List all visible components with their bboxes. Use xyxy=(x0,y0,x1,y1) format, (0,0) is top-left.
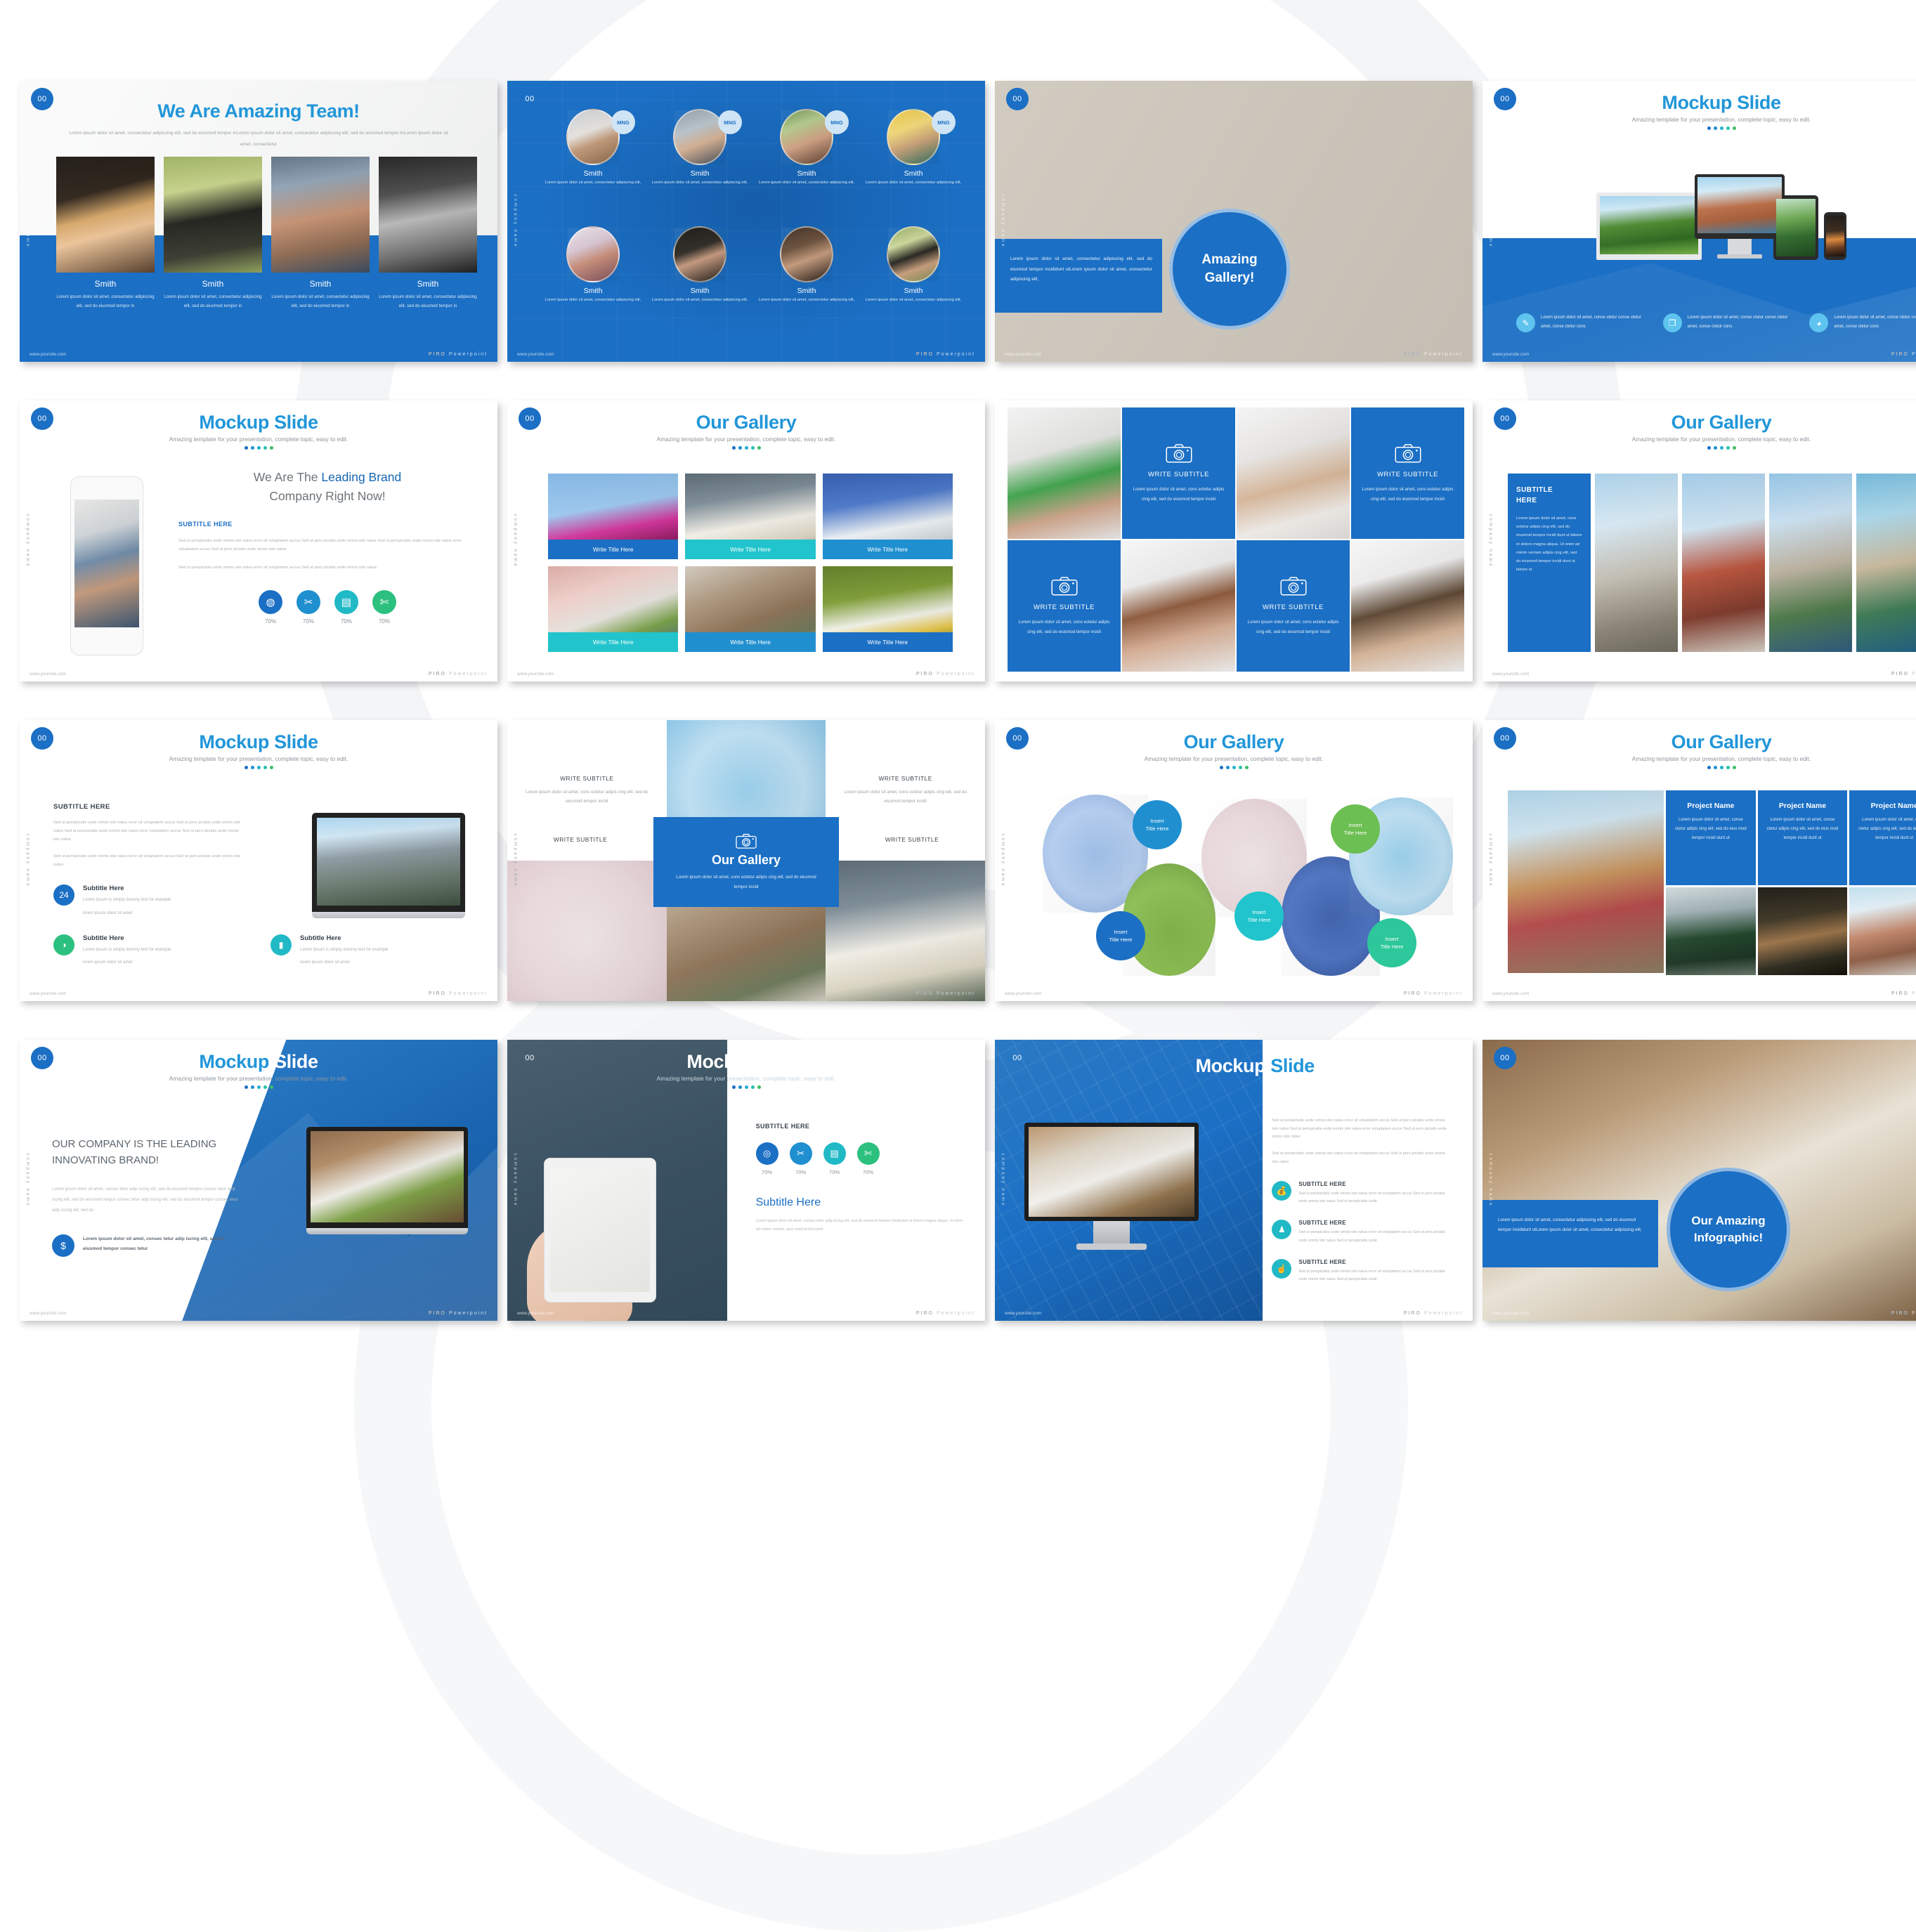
circle-label[interactable]: InsertTitle Here xyxy=(1234,892,1284,941)
page-title: Mockup Slide xyxy=(507,1051,985,1073)
stat-item[interactable]: ✂ 70% xyxy=(296,590,320,625)
gallery-caption: Write Title Here xyxy=(823,632,953,652)
stat-row: ◍ 70% ✂ 70% ▤ 70% ✄ 70% xyxy=(178,590,476,625)
gallery-item[interactable]: Write Title Here xyxy=(548,566,678,652)
project-desc: Lorem ipsum dolor sit amet, conse ctetur… xyxy=(1766,816,1839,843)
camera-icon xyxy=(1395,443,1421,464)
list-item[interactable]: ▮ Subtitle Here Lorem Ipsum is simply du… xyxy=(271,934,469,967)
slide-amazing-infographic[interactable]: 00 Lorem ipsum dolor sit amet, consectet… xyxy=(1482,1040,1916,1321)
member-desc: Lorem ipsum dolor sit amet, consectetur … xyxy=(379,292,477,311)
circle-line-2: Infographic! xyxy=(1694,1229,1763,1246)
cell-heading: WRITE SUBTITLE xyxy=(1377,471,1438,478)
slide-write-subtitle-checker[interactable]: WRITE SUBTITLE Lorem ipsum dolor sit ame… xyxy=(995,400,1473,681)
slide5-header: Mockup Slide Amazing template for your p… xyxy=(20,400,497,450)
slide-mockup-devices[interactable]: 00 Mockup Slide Amazing template for you… xyxy=(1482,81,1916,362)
slide-leading-brand[interactable]: 00 Mockup Slide Amazing template for you… xyxy=(20,400,497,681)
feature-line-1: Lorem Ipsum is simply dummy text for exa… xyxy=(83,946,171,955)
page-title: Mockup Slide xyxy=(20,412,497,433)
footer-brand: PIRO Powerpoint xyxy=(916,1311,975,1316)
text-cell[interactable]: WRITE SUBTITLE Lorem ipsum dolor sit ame… xyxy=(1351,407,1464,539)
laptop-base xyxy=(306,1228,468,1234)
page-title: Mockup Slide xyxy=(20,1051,497,1073)
slide-number-badge: 00 xyxy=(1494,88,1516,110)
project-name: Project Name xyxy=(1766,802,1839,810)
slide13-text-column: OUR COMPANY IS THE LEADING INNOVATING BR… xyxy=(52,1137,240,1257)
cell-body: Lorem ipsum dolor sit amet, cons ectetur… xyxy=(1360,485,1455,504)
circle-label[interactable]: InsertTitle Here xyxy=(1133,800,1182,849)
gallery-photo xyxy=(1351,540,1464,672)
text-cell[interactable]: WRITE SUBTITLE Lorem ipsum dolor sit ame… xyxy=(1237,540,1350,672)
body-paragraph-2: Sed ut perspiciatis unde omnis iste natu… xyxy=(1272,1150,1452,1166)
member-name: Smith xyxy=(861,287,965,295)
list-item[interactable]: ❐ Lorem ipsum dolor sit amet, conse ctet… xyxy=(1663,313,1793,332)
project-photo[interactable] xyxy=(1758,887,1848,975)
sidebar-company-label: company name xyxy=(1488,194,1492,248)
device-mockup-group xyxy=(1482,155,1916,260)
feature-line-2: lorem ipsum dolor sit amet xyxy=(300,958,388,967)
laptop-mockup xyxy=(306,1127,468,1234)
list-item[interactable]: Smith Lorem ipsum dolor sit amet, consec… xyxy=(755,226,859,341)
role-badge: MNG xyxy=(718,110,742,134)
slide-number-badge: 00 xyxy=(1494,407,1516,430)
row-body: Sed ut perspiciatis unde omnis iste natu… xyxy=(1298,1229,1452,1245)
laptop-screen xyxy=(1600,196,1698,254)
cell-body: Lorem ipsum dolor sit amet, cons ectetur… xyxy=(1017,618,1112,637)
footer-url[interactable]: www.yoursite.com xyxy=(1005,352,1041,357)
slide-number-badge: 00 xyxy=(1494,1047,1516,1069)
slide6-header: Our Gallery Amazing template for your pr… xyxy=(507,400,985,450)
slide13-header: Mockup Slide Amazing template for your p… xyxy=(20,1040,497,1089)
sidebar-company-label: company name xyxy=(1488,833,1492,887)
stat-item[interactable]: ▤ 70% xyxy=(823,1142,846,1175)
panel-heading-2: HERE xyxy=(1516,495,1582,506)
list-item[interactable]: Smith Lorem ipsum dolor sit amet, consec… xyxy=(271,157,370,311)
gallery-item[interactable]: Write Title Here xyxy=(685,474,815,559)
list-item[interactable]: MNG Smith Lorem ipsum dolor sit amet, co… xyxy=(541,109,645,223)
imac-base xyxy=(1076,1244,1147,1250)
feature-line-2: lorem ipsum dolor sit amet xyxy=(83,958,171,967)
scissors-icon: ✄ xyxy=(372,590,396,614)
center-body: Lorem ipsum dolor sit amet, cons ectetur… xyxy=(669,873,823,892)
slide-number-badge: 00 xyxy=(519,407,541,430)
sidebar-company-label: company name xyxy=(1488,1153,1492,1207)
slide3-caption-text: Lorem ipsum dolor sit amet, consectetur … xyxy=(995,239,1162,285)
member-desc: Lorem ipsum dolor sit amet, consectetur … xyxy=(861,296,965,304)
slide-team-amazing[interactable]: 00 We Are Amazing Team! Lorem ipsum dolo… xyxy=(20,81,497,362)
row-body: Sed ut perspiciatis unde omnis iste natu… xyxy=(1298,1190,1452,1206)
list-item[interactable]: Smith Lorem ipsum dolor sit amet, consec… xyxy=(541,226,645,341)
chart-gear-icon: ◕ xyxy=(1809,313,1828,332)
project-columns: Project Name Lorem ipsum dolor sit amet,… xyxy=(1666,790,1916,973)
panel-heading-1: SUBTITLE xyxy=(1516,485,1582,495)
member-desc: Lorem ipsum dolor sit amet, consectetur … xyxy=(541,179,645,187)
list-item[interactable]: Smith Lorem ipsum dolor sit amet, consec… xyxy=(164,157,262,311)
sidebar-company-label: company name xyxy=(513,514,517,568)
member-name: Smith xyxy=(648,287,752,295)
footer-brand: PIRO Powerpoint xyxy=(916,352,975,357)
role-badge: MNG xyxy=(825,110,849,134)
project-photo[interactable] xyxy=(1849,887,1916,975)
footer-url[interactable]: www.yoursite.com xyxy=(517,1311,554,1316)
list-item[interactable]: Smith Lorem ipsum dolor sit amet, consec… xyxy=(861,226,965,341)
dot-indicator xyxy=(20,766,497,769)
panel-body: Lorem ipsum dolor sit amet, cons ectetur… xyxy=(1516,514,1582,574)
page-subtitle: Amazing template for your presentation, … xyxy=(1482,755,1916,762)
slide8-content: SUBTITLE HERE Lorem ipsum dolor sit amet… xyxy=(1508,474,1916,652)
stat-value: 70% xyxy=(756,1169,778,1175)
gallery-photo[interactable] xyxy=(1769,474,1852,652)
imac-mockup xyxy=(1695,174,1785,260)
footer-brand: PIRO Powerpoint xyxy=(429,1311,488,1316)
gallery-photo[interactable] xyxy=(1682,474,1765,652)
section-subtitle: SUBTITLE HERE xyxy=(178,521,476,528)
project-name: Project Name xyxy=(1858,802,1916,810)
list-item[interactable]: 24 Subtitle Here Lorem Ipsum is simply d… xyxy=(53,885,245,918)
footer-url[interactable]: www.yoursite.com xyxy=(1492,991,1529,996)
phone-mockup xyxy=(70,476,143,655)
page-subtitle: Amazing template for your presentation, … xyxy=(20,1075,497,1082)
circle-gallery-stage: InsertTitle Here InsertTitle Here Insert… xyxy=(1020,788,1453,977)
circle-label[interactable]: InsertTitle Here xyxy=(1096,911,1145,960)
member-desc: Lorem ipsum dolor sit amet, consectetur … xyxy=(755,296,859,304)
imac-base xyxy=(1717,254,1762,259)
feature-title: Subtitle Here xyxy=(300,934,388,942)
list-item[interactable]: MNG Smith Lorem ipsum dolor sit amet, co… xyxy=(755,109,859,223)
stat-value: 70% xyxy=(259,618,282,625)
sidebar-company-label: company name xyxy=(1001,833,1005,887)
member-photo xyxy=(164,157,262,273)
gallery-photo[interactable] xyxy=(507,861,667,1001)
infographic-badge[interactable]: Our Amazing Infographic! xyxy=(1667,1168,1790,1291)
gallery-caption: Write Title Here xyxy=(823,540,953,559)
document-icon: ▤ xyxy=(823,1142,846,1165)
section-subtitle: SUBTITLE HERE xyxy=(756,1123,965,1130)
page-title: Our Gallery xyxy=(1482,731,1916,753)
project-photo[interactable] xyxy=(1666,887,1756,975)
list-item[interactable]: 💰 SUBTITLE HERESed ut perspiciatis unde … xyxy=(1272,1181,1452,1206)
circle-line-2: Gallery! xyxy=(1205,269,1255,287)
slide9-text-column: SUBTITLE HERE Sed ut perspiciatis unde o… xyxy=(53,803,245,918)
team-icon: ♟ xyxy=(1272,1220,1291,1239)
slide-number-badge: 00 xyxy=(31,1047,53,1069)
slide-number-badge: 00 xyxy=(31,407,53,430)
row-body: Sed ut perspiciatis unde omnis iste natu… xyxy=(1298,1268,1452,1284)
stat-item[interactable]: ◎ 70% xyxy=(756,1142,778,1175)
circle-label[interactable]: InsertTitle Here xyxy=(1367,918,1416,967)
tablet-screen xyxy=(550,1168,650,1292)
phone-mockup xyxy=(1824,212,1846,260)
page-title: Mockup Slide xyxy=(1482,92,1916,114)
slide16-caption-band: Lorem ipsum dolor sit amet, consectetur … xyxy=(1482,1200,1658,1267)
slide-mockup-tablet[interactable]: 00 Mockup Slide Amazing template for you… xyxy=(507,1040,985,1321)
cell-heading: WRITE SUBTITLE xyxy=(878,775,932,782)
footer-url[interactable]: www.yoursite.com xyxy=(1492,1311,1529,1316)
feature-line-2: lorem ipsum dolor sit amet xyxy=(83,909,171,918)
stat-value: 70% xyxy=(372,618,396,625)
dot-indicator xyxy=(20,446,497,450)
pencil-icon: ✎ xyxy=(1516,313,1535,332)
gallery-caption: Write Title Here xyxy=(548,632,678,652)
list-item[interactable]: ◑ Subtitle Here Lorem Ipsum is simply du… xyxy=(53,934,252,967)
laptop-base xyxy=(312,912,465,918)
list-item[interactable]: ♟ SUBTITLE HERESed ut perspiciatis unde … xyxy=(1272,1220,1452,1245)
footer-url[interactable]: www.yoursite.com xyxy=(1005,991,1041,996)
page-title: Mockup Slide xyxy=(1196,1055,1454,1077)
member-photo xyxy=(379,157,477,273)
slide-number-badge: 00 xyxy=(1006,88,1029,110)
headline: We Are The Leading Brand Company Right N… xyxy=(178,468,476,505)
text-cell[interactable]: WRITE SUBTITLE Lorem ipsum dolor sit ame… xyxy=(1122,407,1235,539)
stat-item[interactable]: ◍ 70% xyxy=(259,590,282,625)
project-grid: Project Name Lorem ipsum dolor sit amet,… xyxy=(1508,790,1916,973)
checker-grid: WRITE SUBTITLE Lorem ipsum dolor sit ame… xyxy=(1008,407,1464,672)
list-item[interactable]: Smith Lorem ipsum dolor sit amet, consec… xyxy=(56,157,155,311)
slide-number-badge: 00 xyxy=(1006,727,1029,750)
center-gallery-card[interactable]: Our Gallery Lorem ipsum dolor sit amet, … xyxy=(653,817,839,907)
page-title: Our Gallery xyxy=(995,731,1473,753)
list-item[interactable]: ◕ Lorem ipsum dolor sit amet, conse ctet… xyxy=(1809,313,1916,332)
stat-item[interactable]: ✄ 70% xyxy=(857,1142,880,1175)
member-name: Smith xyxy=(164,279,262,289)
list-item[interactable]: MNG Smith Lorem ipsum dolor sit amet, co… xyxy=(861,109,965,223)
gallery-caption: Write Title Here xyxy=(548,540,678,559)
list-item[interactable]: MNG Smith Lorem ipsum dolor sit amet, co… xyxy=(648,109,752,223)
page-subtitle: Amazing template for your presentation, … xyxy=(20,436,497,443)
gallery-item[interactable]: Write Title Here xyxy=(823,474,953,559)
cell-body: Lorem ipsum dolor sit amet, cons ectetur… xyxy=(1131,485,1226,504)
feature-text: Lorem ipsum dolor sit amet, conse ctetur… xyxy=(1688,313,1793,331)
footer-url[interactable]: www.yoursite.com xyxy=(1492,352,1529,357)
footer-brand: PIRO Powerpoint xyxy=(916,672,975,677)
slide-number-badge: 00 xyxy=(1494,727,1516,750)
row-title: SUBTITLE HERE xyxy=(1298,1181,1452,1187)
imac-stand xyxy=(1728,239,1752,254)
hand-coin-icon: ☝ xyxy=(1272,1259,1291,1279)
footer-url[interactable]: www.yoursite.com xyxy=(517,352,554,357)
tools-icon: ✂ xyxy=(790,1142,812,1165)
dot-indicator xyxy=(507,1085,985,1089)
body-paragraph-2: Sed ut perspiciatis unde omnis iste natu… xyxy=(178,563,476,572)
member-name: Smith xyxy=(271,279,370,289)
footer-brand: PIRO Powerpoint xyxy=(429,352,488,357)
analytics-icon: ◍ xyxy=(259,590,282,614)
slide5-content: We Are The Leading Brand Company Right N… xyxy=(178,468,476,625)
list-item[interactable]: $ Lorem ipsum dolor sit amet, consec tet… xyxy=(52,1234,240,1257)
camera-icon xyxy=(1280,575,1307,596)
slide-mockup-imac[interactable]: 00 Mockup Slide Sed ut perspiciatis unde… xyxy=(995,1040,1473,1321)
copy-icon: ❐ xyxy=(1663,313,1682,332)
member-desc: Lorem ipsum dolor sit amet, consectetur … xyxy=(541,296,645,304)
cell-heading: WRITE SUBTITLE xyxy=(1263,603,1324,611)
cell-heading: WRITE SUBTITLE xyxy=(560,775,613,782)
gallery-photo[interactable] xyxy=(1856,474,1916,652)
subtitle-panel[interactable]: SUBTITLE HERE Lorem ipsum dolor sit amet… xyxy=(1508,474,1591,652)
gallery-photo[interactable] xyxy=(1595,474,1678,652)
gallery-photo xyxy=(1237,407,1350,539)
dot-indicator xyxy=(1482,126,1916,130)
amazing-gallery-badge[interactable]: Amazing Gallery! xyxy=(1169,209,1290,329)
sidebar-company-label: company name xyxy=(25,194,30,248)
footer-brand: PIRO Powerpoint xyxy=(429,672,488,677)
bottom-heading-right: WRITE SUBTITLE xyxy=(856,836,968,843)
scissors-icon: ✄ xyxy=(857,1142,880,1165)
member-desc: Lorem ipsum dolor sit amet, consectetur … xyxy=(755,179,859,187)
sidebar-company-label: company name xyxy=(25,833,30,887)
list-item[interactable]: ☝ SUBTITLE HERESed ut perspiciatis unde … xyxy=(1272,1259,1452,1284)
gallery-photo[interactable] xyxy=(826,861,985,1001)
page-title: We Are Amazing Team! xyxy=(20,100,497,122)
footer-brand: PIRO Powerpoint xyxy=(1404,352,1463,357)
document-icon: ▤ xyxy=(334,590,358,614)
feature-text: Lorem ipsum dolor sit amet, conse ctetur… xyxy=(1541,313,1646,331)
center-title: Our Gallery xyxy=(712,853,781,868)
footer-url[interactable]: www.yoursite.com xyxy=(1005,1311,1041,1316)
body-paragraph: Lorem ipsum dolor sit amet, consec tetur… xyxy=(52,1184,240,1216)
tablet-mockup xyxy=(1773,195,1818,260)
slide-gallery-subtitle-arch[interactable]: 00 Our Gallery Amazing template for your… xyxy=(1482,400,1916,681)
project-card[interactable]: Project Name Lorem ipsum dolor sit amet,… xyxy=(1666,790,1756,885)
slide11-header: Our Gallery Amazing template for your pr… xyxy=(995,720,1473,769)
bullet-text: Lorem ipsum dolor sit amet, consec tetur… xyxy=(83,1234,240,1255)
footer-url[interactable]: www.yoursite.com xyxy=(517,672,554,677)
sidebar-company-label: company name xyxy=(513,194,517,248)
target-icon: ◎ xyxy=(756,1142,778,1165)
slide-mockup-laptop-features[interactable]: 00 Mockup Slide Amazing template for you… xyxy=(20,720,497,1001)
page-subtitle: Amazing template for your presentation, … xyxy=(995,755,1473,762)
member-name: Smith xyxy=(861,169,965,178)
member-photo xyxy=(271,157,370,273)
page-subtitle: Amazing template for your presentation, … xyxy=(1482,116,1916,123)
hero-photo[interactable] xyxy=(1508,790,1664,973)
tablet-screen xyxy=(1776,199,1816,256)
stat-value: 70% xyxy=(334,618,358,625)
body-paragraph: Lorem ipsum dolor sit amet, consec tetur… xyxy=(756,1218,965,1234)
text-cell[interactable]: WRITE SUBTITLE Lorem ipsum dolor sit ame… xyxy=(1008,540,1121,672)
dot-indicator xyxy=(20,1085,497,1089)
slide-number-badge: 00 xyxy=(31,727,53,750)
slide16-caption-text: Lorem ipsum dolor sit amet, consectetur … xyxy=(1482,1200,1658,1236)
dot-indicator xyxy=(1482,766,1916,769)
gallery-photo xyxy=(1008,407,1121,539)
footer-brand: PIRO Powerpoint xyxy=(1891,352,1916,357)
gallery-item[interactable]: Write Title Here xyxy=(548,474,678,559)
member-desc: Lorem ipsum dolor sit amet, consectetur … xyxy=(648,179,752,187)
list-item[interactable]: Smith Lorem ipsum dolor sit amet, consec… xyxy=(379,157,477,311)
sidebar-company-label: company name xyxy=(513,833,517,887)
gallery-item[interactable]: Write Title Here xyxy=(685,566,815,652)
slide14-content: SUBTITLE HERE ◎ 70% ✂ 70% ▤ 70% ✄ 70% xyxy=(756,1123,965,1234)
page-subtitle: Amazing template for your presentation, … xyxy=(1482,436,1916,443)
photo-strip xyxy=(1595,474,1916,652)
member-desc: Lorem ipsum dolor sit amet, consectetur … xyxy=(861,179,965,187)
avatar xyxy=(780,226,833,282)
headline: Subtitle Here xyxy=(756,1196,965,1209)
delivery-icon: ◑ xyxy=(53,934,74,955)
body-paragraph-1: Sed ut perspiciatis unde omnis iste natu… xyxy=(53,819,245,844)
footer-brand: PIRO Powerpoint xyxy=(1891,991,1916,996)
list-item[interactable]: ✎ Lorem ipsum dolor sit amet, conse ctet… xyxy=(1516,313,1646,332)
slide-amazing-gallery[interactable]: 00 Lorem ipsum dolor sit amet, consectet… xyxy=(995,81,1473,362)
gallery-item[interactable]: Write Title Here xyxy=(823,566,953,652)
member-name: Smith xyxy=(648,169,752,178)
circle-line-1: Our Amazing xyxy=(1691,1213,1765,1229)
dot-indicator xyxy=(507,446,985,450)
cell-body: Lorem ipsum dolor sit amet, cons ectetur… xyxy=(842,788,968,806)
gallery-caption: Write Title Here xyxy=(685,632,815,652)
stat-value: 70% xyxy=(790,1169,812,1175)
page-title: Mockup Slide xyxy=(20,731,497,753)
dollar-gear-icon: $ xyxy=(52,1234,74,1257)
circle-label[interactable]: InsertTitle Here xyxy=(1331,804,1380,854)
project-card[interactable]: Project Name Lorem ipsum dolor sit amet,… xyxy=(1849,790,1916,885)
slide-number-badge: 00 xyxy=(1006,1047,1029,1069)
footer-url[interactable]: www.yoursite.com xyxy=(30,672,66,677)
footer-url[interactable]: www.yoursite.com xyxy=(30,352,66,357)
slide-team-circles[interactable]: 00 MNG Smith Lorem ipsum dolor sit amet,… xyxy=(507,81,985,362)
bottom-heading-left: WRITE SUBTITLE xyxy=(524,836,637,843)
member-photo xyxy=(56,157,155,273)
dot-indicator xyxy=(995,766,1473,769)
footer-brand: PIRO Powerpoint xyxy=(1891,1311,1916,1316)
page-subtitle: Amazing template for your presentation, … xyxy=(20,755,497,762)
sidebar-company-label: company name xyxy=(1001,194,1005,248)
member-name: Smith xyxy=(755,169,859,178)
footer-url[interactable]: www.yoursite.com xyxy=(1492,672,1529,677)
body-paragraph-1: Sed ut perspiciatis unde omnis iste natu… xyxy=(178,537,476,554)
support-24-icon: 24 xyxy=(53,885,74,906)
slide-gallery-center-block[interactable]: WRITE SUBTITLE Lorem ipsum dolor sit ame… xyxy=(507,720,985,1001)
footer-url[interactable]: www.yoursite.com xyxy=(30,1311,66,1316)
camera-icon xyxy=(1051,575,1078,596)
slide-gallery-circles[interactable]: 00 Our Gallery Amazing template for your… xyxy=(995,720,1473,1001)
slide-gallery-grid[interactable]: 00 Our Gallery Amazing template for your… xyxy=(507,400,985,681)
project-name: Project Name xyxy=(1674,802,1747,810)
feature-text: Lorem ipsum dolor sit amet, conse ctetur… xyxy=(1834,313,1916,331)
laptop-mockup xyxy=(1596,192,1702,260)
gallery-caption: Write Title Here xyxy=(685,540,815,559)
row-title: SUBTITLE HERE xyxy=(1298,1220,1452,1226)
sidebar-company-label: company name xyxy=(513,1153,517,1207)
page-subtitle: Amazing template for your presentation, … xyxy=(507,1075,985,1082)
imac-stand xyxy=(1093,1221,1130,1244)
slide2-member-grid: MNG Smith Lorem ipsum dolor sit amet, co… xyxy=(541,109,965,341)
imac-mockup xyxy=(1024,1123,1199,1250)
slide3-caption-band: Lorem ipsum dolor sit amet, consectetur … xyxy=(995,239,1162,313)
phone-screen xyxy=(74,500,139,627)
slide-gallery-projects[interactable]: 00 Our Gallery Amazing template for your… xyxy=(1482,720,1916,1001)
slide9-bottom-features: ◑ Subtitle Here Lorem Ipsum is simply du… xyxy=(53,934,469,967)
stat-item[interactable]: ✄ 70% xyxy=(372,590,396,625)
feature-title: Subtitle Here xyxy=(83,885,171,892)
member-name: Smith xyxy=(541,169,645,178)
laptop-screen xyxy=(317,818,460,906)
list-item[interactable]: Smith Lorem ipsum dolor sit amet, consec… xyxy=(648,226,752,341)
project-desc: Lorem ipsum dolor sit amet, conse ctetur… xyxy=(1858,816,1916,843)
stat-item[interactable]: ▤ 70% xyxy=(334,590,358,625)
stat-item[interactable]: ✂ 70% xyxy=(790,1142,812,1175)
imac-screen xyxy=(1697,177,1782,233)
member-name: Smith xyxy=(56,279,155,289)
slide4-feature-row: ✎ Lorem ipsum dolor sit amet, conse ctet… xyxy=(1516,313,1916,332)
project-card[interactable]: Project Name Lorem ipsum dolor sit amet,… xyxy=(1758,790,1848,885)
slide9-header: Mockup Slide Amazing template for your p… xyxy=(20,720,497,769)
cell-body: Lorem ipsum dolor sit amet, cons ectetur… xyxy=(524,788,650,806)
money-bag-icon: 💰 xyxy=(1272,1181,1291,1201)
footer-url[interactable]: www.yoursite.com xyxy=(30,991,66,996)
avatar xyxy=(887,226,940,282)
slide-company-leading[interactable]: 00 Mockup Slide Amazing template for you… xyxy=(20,1040,497,1321)
footer-brand: PIRO Powerpoint xyxy=(1404,991,1463,996)
